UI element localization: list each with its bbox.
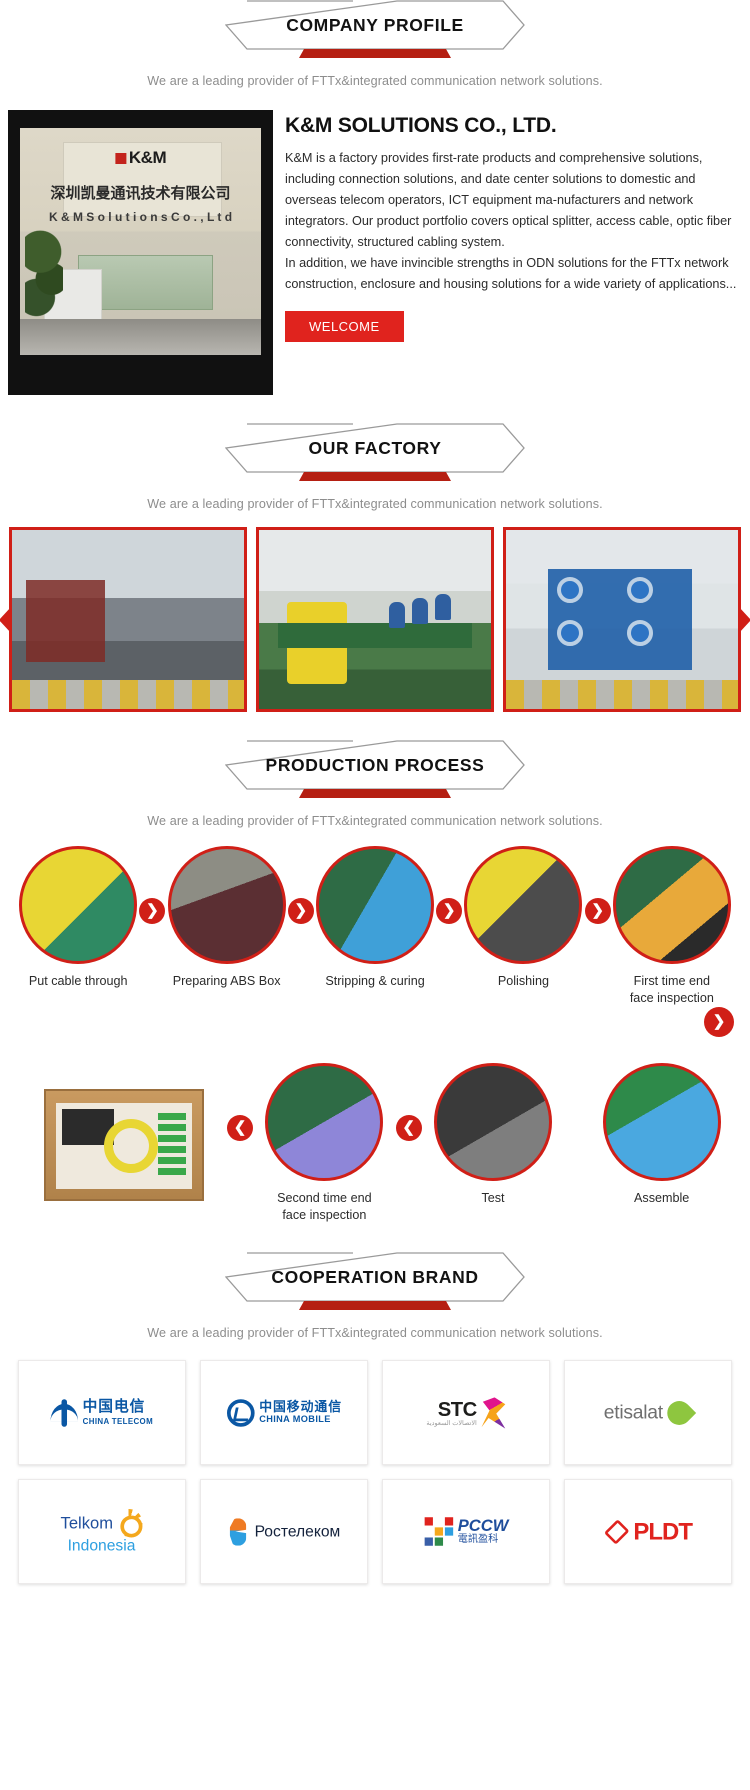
company-office-photo: K&M 深圳凯曼通讯技术有限公司 K & M S o l u t i o n s… xyxy=(8,110,273,395)
brand-card-etisalat[interactable]: etisalat xyxy=(564,1360,732,1465)
china-mobile-mark-icon xyxy=(227,1399,255,1427)
process-step-8: Assemble xyxy=(577,1063,746,1207)
brand-name-cn: STC xyxy=(427,1398,477,1419)
rostelecom-mark-icon xyxy=(228,1518,250,1546)
our-factory-subtitle: We are a leading provider of FTTx&integr… xyxy=(0,497,750,511)
company-name: K&M SOLUTIONS CO., LTD. xyxy=(285,114,742,138)
pccw-logo: PCCW 電訊盈科 xyxy=(424,1517,508,1546)
banner-accent-bar xyxy=(299,472,451,481)
section-title-our-factory: OUR FACTORY xyxy=(225,423,525,473)
factory-gallery xyxy=(0,527,750,712)
logo-square-icon xyxy=(115,153,126,164)
brand-name-cn: PLDT xyxy=(633,1517,692,1546)
process-arrow-left-icon: ❮ xyxy=(227,1115,253,1141)
brand-name-cn: PCCW xyxy=(457,1517,508,1534)
process-label: Test xyxy=(431,1190,556,1207)
company-description-p2: In addition, we have invincible strength… xyxy=(285,253,742,295)
process-row-1: Put cable through ❯ Preparing ABS Box ❯ … xyxy=(0,846,750,1007)
process-photo-second-time-end-face-inspection[interactable] xyxy=(265,1063,383,1181)
brand-name-cn: etisalat xyxy=(604,1401,663,1423)
brand-card-china-mobile[interactable]: 中国移动通信 CHINA MOBILE xyxy=(200,1360,368,1465)
company-description: K&M is a factory provides first-rate pro… xyxy=(285,148,742,295)
pldt-diamond-icon xyxy=(604,1519,630,1545)
factory-worker xyxy=(389,602,405,628)
brand-card-rostelecom[interactable]: Ростелеком xyxy=(200,1479,368,1584)
factory-spool xyxy=(627,620,653,646)
china-telecom-mark-icon xyxy=(51,1399,79,1427)
cooperation-brand-subtitle: We are a leading provider of FTTx&integr… xyxy=(0,1326,750,1340)
stc-logo: STC الاتصالات السعودية xyxy=(427,1397,506,1428)
banner-frame: COOPERATION BRAND xyxy=(225,1252,525,1310)
banner-frame: PRODUCTION PROCESS xyxy=(225,740,525,798)
brand-card-china-telecom[interactable]: 中国电信 CHINA TELECOM xyxy=(18,1360,186,1465)
rostelecom-logo: Ростелеком xyxy=(228,1518,340,1546)
process-photo-put-cable-through[interactable] xyxy=(19,846,137,964)
banner-accent-bar xyxy=(299,49,451,58)
process-arrow-left-icon: ❮ xyxy=(396,1115,422,1141)
brand-name-cn: 中国电信 xyxy=(83,1400,153,1415)
brand-card-stc[interactable]: STC الاتصالات السعودية xyxy=(382,1360,550,1465)
factory-photo-2[interactable] xyxy=(256,527,494,712)
banner-accent-bar xyxy=(299,789,451,798)
brand-name-cn: Ростелеком xyxy=(254,1522,340,1540)
brand-logo-grid: 中国电信 CHINA TELECOM 中国移动通信 CHINA MOBILE S… xyxy=(0,1360,750,1584)
process-photo-preparing-abs-box[interactable] xyxy=(168,846,286,964)
factory-floor xyxy=(12,680,244,709)
brand-name-en: الاتصالات السعودية xyxy=(427,1420,477,1427)
brand-card-telkom-indonesia[interactable]: Telkom Indonesia xyxy=(18,1479,186,1584)
process-photo-polishing[interactable] xyxy=(464,846,582,964)
factory-bench xyxy=(278,623,473,648)
process-label: Polishing xyxy=(461,973,586,990)
carton-box xyxy=(44,1089,204,1201)
brand-card-pccw[interactable]: PCCW 電訊盈科 xyxy=(382,1479,550,1584)
factory-machine xyxy=(26,580,105,662)
process-label: Stripping & curing xyxy=(313,973,438,990)
brand-name-cn: Telkom xyxy=(61,1513,113,1532)
section-title-cooperation-brand: COOPERATION BRAND xyxy=(225,1252,525,1302)
banner-frame: OUR FACTORY xyxy=(225,423,525,481)
production-process-subtitle: We are a leading provider of FTTx&integr… xyxy=(0,814,750,828)
factory-photo-3[interactable] xyxy=(503,527,741,712)
office-wall-chinese-name: 深圳凯曼通讯技术有限公司 xyxy=(50,182,230,203)
office-wall-logo: K&M xyxy=(115,148,166,168)
factory-spool xyxy=(557,620,583,646)
pccw-squares-icon xyxy=(424,1517,453,1546)
office-wall-english-name: K & M S o l u t i o n s C o . , L t d xyxy=(49,210,232,224)
brand-name-en: CHINA MOBILE xyxy=(259,1415,342,1425)
process-label: Second time end face inspection xyxy=(262,1190,387,1224)
process-arrow-down-icon[interactable]: ❯ xyxy=(704,1007,734,1037)
process-photo-first-time-end-face-inspection[interactable] xyxy=(613,846,731,964)
office-plant xyxy=(25,219,64,328)
company-profile-block: K&M 深圳凯曼通讯技术有限公司 K & M S o l u t i o n s… xyxy=(0,110,750,395)
process-label: Put cable through xyxy=(16,973,141,990)
process-label: Assemble xyxy=(599,1190,724,1207)
brand-name-cn: 中国移动通信 xyxy=(259,1400,342,1414)
brand-name-en: Indonesia xyxy=(68,1536,136,1554)
factory-worker xyxy=(435,594,451,620)
factory-spool xyxy=(557,577,583,603)
banner-frame: COMPANY PROFILE xyxy=(225,0,525,58)
process-photo-test[interactable] xyxy=(434,1063,552,1181)
process-step-1: Put cable through ❯ xyxy=(4,846,152,990)
china-mobile-logo: 中国移动通信 CHINA MOBILE xyxy=(227,1399,342,1427)
gallery-next-arrow-icon[interactable] xyxy=(739,607,750,633)
telkom-indonesia-logo: Telkom Indonesia xyxy=(61,1509,143,1555)
packaging-box-photo[interactable] xyxy=(30,1081,240,1216)
company-description-p1: K&M is a factory provides first-rate pro… xyxy=(285,148,742,253)
etisalat-leaf-icon xyxy=(663,1396,697,1430)
company-profile-banner: COMPANY PROFILE xyxy=(0,0,750,68)
brand-name-en: 電訊盈科 xyxy=(457,1535,508,1546)
carton-green-connectors xyxy=(158,1113,186,1179)
pldt-logo: PLDT xyxy=(604,1517,691,1546)
process-arrow-right-icon: ❯ xyxy=(585,898,611,924)
office-floor xyxy=(20,319,261,355)
page-title: COMPANY PROFILE xyxy=(225,0,525,50)
process-step-4: Polishing ❯ xyxy=(449,846,597,990)
company-profile-text: K&M SOLUTIONS CO., LTD. K&M is a factory… xyxy=(273,110,750,395)
brand-name-en: CHINA TELECOM xyxy=(83,1417,153,1425)
process-arrow-right-icon: ❯ xyxy=(288,898,314,924)
process-step-3: Stripping & curing ❯ xyxy=(301,846,449,990)
etisalat-logo: etisalat xyxy=(604,1401,692,1425)
process-photo-assemble[interactable] xyxy=(603,1063,721,1181)
process-step-2: Preparing ABS Box ❯ xyxy=(152,846,300,990)
factory-photo-1[interactable] xyxy=(9,527,247,712)
process-down-arrow-wrap: ❯ xyxy=(0,1007,750,1041)
stc-swoosh-icon xyxy=(482,1397,506,1428)
carton-contents xyxy=(56,1103,192,1189)
production-process-banner: PRODUCTION PROCESS xyxy=(0,740,750,808)
cooperation-brand-banner: COOPERATION BRAND xyxy=(0,1252,750,1320)
process-label: Preparing ABS Box xyxy=(164,973,289,990)
carton-yellow-coil xyxy=(104,1119,158,1173)
factory-worker xyxy=(412,598,428,624)
process-step-6: Second time end face inspection ❮ xyxy=(240,1063,409,1224)
process-step-5: First time end face inspection xyxy=(598,846,746,1007)
telkom-sun-icon xyxy=(115,1509,143,1537)
china-telecom-logo: 中国电信 CHINA TELECOM xyxy=(51,1399,154,1427)
brand-card-pldt[interactable]: PLDT xyxy=(564,1479,732,1584)
banner-accent-bar xyxy=(299,1301,451,1310)
process-photo-stripping-curing[interactable] xyxy=(316,846,434,964)
factory-spool xyxy=(627,577,653,603)
our-factory-banner: OUR FACTORY xyxy=(0,423,750,491)
factory-floor xyxy=(506,680,738,709)
process-step-7: Test ❮ xyxy=(409,1063,578,1207)
company-profile-subtitle: We are a leading provider of FTTx&integr… xyxy=(0,74,750,88)
process-row-2: Second time end face inspection ❮ Test ❮… xyxy=(0,1063,750,1224)
welcome-button[interactable]: WELCOME xyxy=(285,311,404,342)
process-label: First time end face inspection xyxy=(609,973,734,1007)
section-title-production-process: PRODUCTION PROCESS xyxy=(225,740,525,790)
office-room: K&M 深圳凯曼通讯技术有限公司 K & M S o l u t i o n s… xyxy=(20,128,261,355)
